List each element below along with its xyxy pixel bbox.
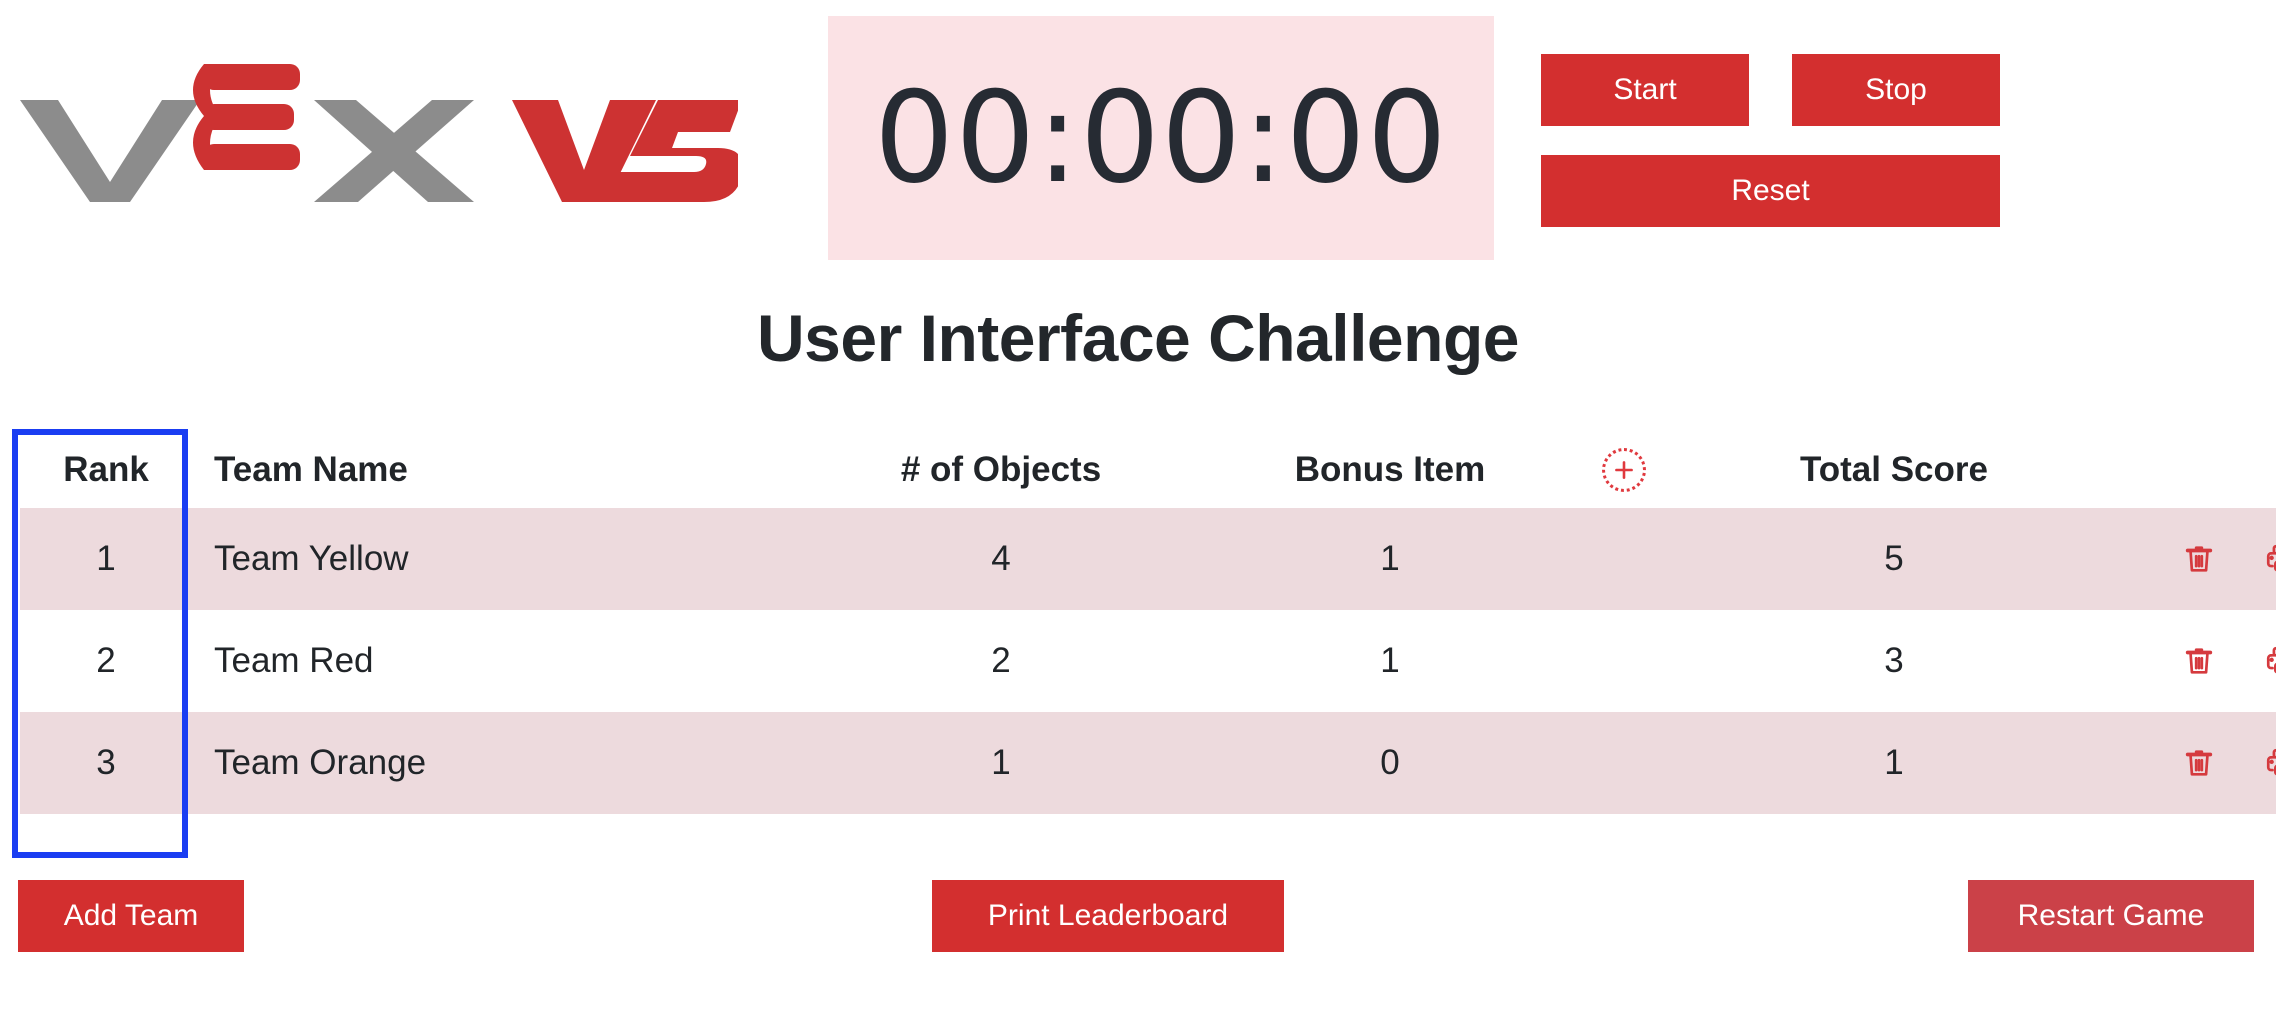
table-row[interactable]: 2 Team Red 2 1 3 [20, 610, 2276, 712]
app-header: 00:00:00 Start Stop Reset [0, 0, 2276, 262]
cell-spacer [1540, 712, 1708, 814]
cell-actions [2080, 712, 2276, 814]
cell-spacer [1540, 508, 1708, 610]
header-rank[interactable]: Rank [20, 432, 192, 508]
timer-display: 00:00:00 [828, 16, 1494, 260]
page-title: User Interface Challenge [0, 300, 2276, 376]
header-add-bonus-cell [1540, 432, 1708, 508]
reset-button[interactable]: Reset [1541, 155, 2000, 227]
cell-actions [2080, 610, 2276, 712]
header-total-score[interactable]: Total Score [1708, 432, 2080, 508]
cell-actions [2080, 508, 2276, 610]
cell-total-score: 3 [1708, 610, 2080, 712]
cell-objects[interactable]: 4 [762, 508, 1240, 610]
cell-team-name[interactable]: Team Red [192, 610, 762, 712]
trash-icon[interactable] [2182, 746, 2216, 780]
header-actions [2080, 432, 2276, 508]
add-team-button[interactable]: Add Team [18, 880, 244, 952]
leaderboard-table: Rank Team Name # of Objects Bonus Item T… [20, 432, 2276, 814]
cell-spacer [1540, 610, 1708, 712]
cell-objects[interactable]: 1 [762, 712, 1240, 814]
logo-letter-e [193, 64, 300, 170]
table-row[interactable]: 1 Team Yellow 4 1 5 [20, 508, 2276, 610]
logo-letter-v [20, 100, 200, 202]
cell-rank: 3 [20, 712, 192, 814]
vex-v5-logo [18, 52, 738, 202]
header-objects[interactable]: # of Objects [762, 432, 1240, 508]
table-row[interactable]: 3 Team Orange 1 0 1 [20, 712, 2276, 814]
cell-total-score: 1 [1708, 712, 2080, 814]
timer-value: 00:00:00 [874, 75, 1448, 201]
table-header-row: Rank Team Name # of Objects Bonus Item T… [20, 432, 2276, 508]
cell-team-name[interactable]: Team Yellow [192, 508, 762, 610]
start-button[interactable]: Start [1541, 54, 1749, 126]
header-team-name[interactable]: Team Name [192, 432, 762, 508]
restart-game-button[interactable]: Restart Game [1968, 880, 2254, 952]
cell-total-score: 5 [1708, 508, 2080, 610]
logo-letter-x [314, 100, 474, 202]
cell-bonus[interactable]: 0 [1240, 712, 1540, 814]
cell-bonus[interactable]: 1 [1240, 610, 1540, 712]
cell-objects[interactable]: 2 [762, 610, 1240, 712]
header-bonus-item[interactable]: Bonus Item [1240, 432, 1540, 508]
plus-circle-icon[interactable] [1602, 448, 1646, 492]
table-header: Rank Team Name # of Objects Bonus Item T… [20, 432, 2276, 508]
cell-bonus[interactable]: 1 [1240, 508, 1540, 610]
logo-letter-v5 [512, 100, 738, 202]
cell-team-name[interactable]: Team Orange [192, 712, 762, 814]
printer-icon[interactable] [2264, 644, 2276, 678]
printer-icon[interactable] [2264, 542, 2276, 576]
trash-icon[interactable] [2182, 542, 2216, 576]
printer-icon[interactable] [2264, 746, 2276, 780]
trash-icon[interactable] [2182, 644, 2216, 678]
stop-button[interactable]: Stop [1792, 54, 2000, 126]
cell-rank: 1 [20, 508, 192, 610]
print-leaderboard-button[interactable]: Print Leaderboard [932, 880, 1284, 952]
table-body: 1 Team Yellow 4 1 5 [20, 508, 2276, 814]
cell-rank: 2 [20, 610, 192, 712]
leaderboard-table-wrap: Rank Team Name # of Objects Bonus Item T… [20, 432, 2196, 814]
